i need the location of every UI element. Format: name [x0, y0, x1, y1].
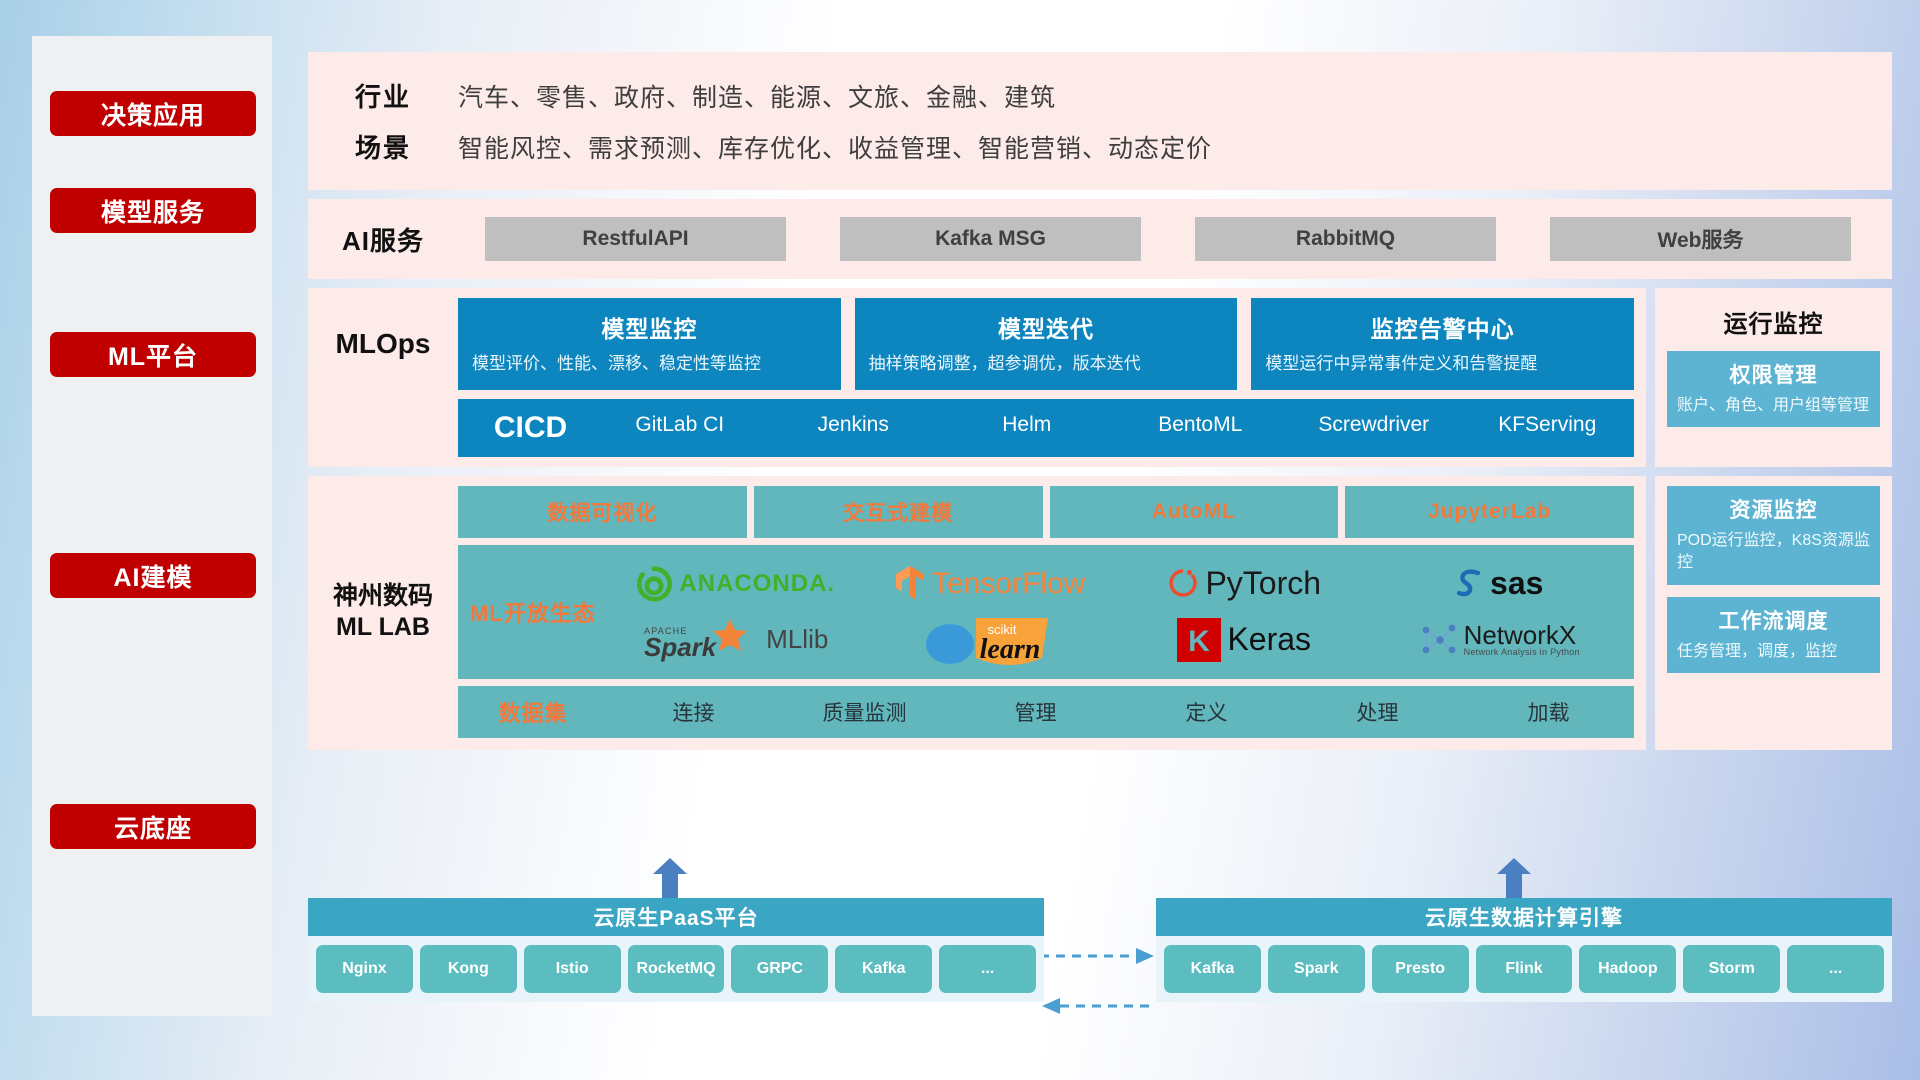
- card-title: 工作流调度: [1677, 605, 1870, 635]
- monitor-card-resource[interactable]: 资源监控 POD运行监控，K8S资源监控: [1667, 486, 1880, 585]
- data-engine-chip-list: Kafka Spark Presto Flink Hadoop Storm ..…: [1156, 936, 1892, 1002]
- dataset-label: 数据集: [458, 696, 608, 728]
- scenario-value: 智能风控、需求预测、库存优化、收益管理、智能营销、动态定价: [458, 129, 1212, 165]
- card-desc: 账户、角色、用户组等管理: [1677, 395, 1870, 417]
- dataset-item-process[interactable]: 处理: [1292, 697, 1463, 727]
- spark-mllib-logo: APACHE Spark MLlib: [642, 618, 828, 662]
- networkx-wordmark: NetworkX: [1464, 622, 1580, 648]
- tensorflow-logo: TensorFlow: [894, 564, 1085, 604]
- svg-text:K: K: [1189, 625, 1211, 658]
- card-title: 模型监控: [472, 310, 827, 344]
- cicd-label: CICD: [468, 399, 593, 457]
- pytorch-mark: [1167, 565, 1199, 603]
- pytorch-logo: PyTorch: [1167, 565, 1321, 603]
- card-title: 资源监控: [1677, 494, 1870, 524]
- paas-chip-more[interactable]: ...: [939, 945, 1036, 993]
- industry-value: 汽车、零售、政府、制造、能源、文旅、金融、建筑: [458, 78, 1056, 114]
- cicd-item-jenkins[interactable]: Jenkins: [767, 399, 941, 436]
- ml-open-ecosystem: ML开放生态 ANACONDA.: [458, 545, 1634, 679]
- scenario-row: 场景 智能风控、需求预测、库存优化、收益管理、智能营销、动态定价: [308, 121, 1892, 172]
- ai-service-label: AI服务: [308, 221, 458, 258]
- mlops-cards: 模型监控 模型评价、性能、漂移、稳定性等监控 模型迭代 抽样策略调整，超参调优，…: [458, 298, 1634, 390]
- paas-chip-grpc[interactable]: GRPC: [731, 945, 828, 993]
- monitor-card-permission[interactable]: 权限管理 账户、角色、用户组等管理: [1667, 351, 1880, 427]
- spark-mark: APACHE Spark: [642, 618, 760, 662]
- dataset-item-define[interactable]: 定义: [1121, 697, 1292, 727]
- ml-lab-row: 神州数码 ML LAB 数据可视化 交互式建模 AutoML JupyterLa…: [308, 486, 1634, 738]
- data-engine-panel: 云原生数据计算引擎 Kafka Spark Presto Flink Hadoo…: [1156, 898, 1892, 1002]
- dataset-item-quality[interactable]: 质量监测: [779, 697, 950, 727]
- cicd-items: GitLab CI Jenkins Helm BentoML Screwdriv…: [593, 399, 1634, 436]
- service-kafka-msg[interactable]: Kafka MSG: [840, 217, 1141, 261]
- run-monitor-title: 运行监控: [1667, 304, 1880, 339]
- tensorflow-mark: [894, 564, 926, 604]
- engine-chip-flink[interactable]: Flink: [1476, 945, 1573, 993]
- card-desc: 任务管理，调度，监控: [1677, 641, 1870, 663]
- card-desc: 模型运行中异常事件定义和告警提醒: [1265, 353, 1620, 376]
- paas-platform-title: 云原生PaaS平台: [308, 898, 1044, 936]
- industry-row: 行业 汽车、零售、政府、制造、能源、文旅、金融、建筑: [308, 70, 1892, 121]
- svg-text:Spark: Spark: [644, 632, 718, 662]
- tool-interactive-modeling[interactable]: 交互式建模: [754, 486, 1043, 538]
- engine-chip-more[interactable]: ...: [1787, 945, 1884, 993]
- paas-platform-panel: 云原生PaaS平台 Nginx Kong Istio RocketMQ GRPC…: [308, 898, 1044, 1002]
- cicd-item-bentoml[interactable]: BentoML: [1114, 399, 1288, 436]
- card-title: 权限管理: [1677, 359, 1870, 389]
- anaconda-wordmark: ANACONDA.: [679, 570, 835, 598]
- diagram-canvas: 决策应用 模型服务 ML平台 AI建模 云底座 行业 汽车、零售、政府、制造、能…: [0, 0, 1920, 1080]
- keras-wordmark: Keras: [1227, 621, 1311, 658]
- svg-text:learn: learn: [979, 634, 1040, 665]
- ml-open-ecosystem-label: ML开放生态: [458, 596, 608, 628]
- card-desc: 模型评价、性能、漂移、稳定性等监控: [472, 353, 827, 376]
- mlops-panel: MLOps 模型监控 模型评价、性能、漂移、稳定性等监控 模型迭代 抽样策略调整…: [308, 288, 1646, 467]
- networkx-mark: [1418, 620, 1458, 660]
- cicd-item-helm[interactable]: Helm: [940, 399, 1114, 436]
- cloud-base-band: 云原生PaaS平台 Nginx Kong Istio RocketMQ GRPC…: [308, 898, 1892, 1048]
- dataset-item-load[interactable]: 加载: [1463, 697, 1634, 727]
- card-desc: POD运行监控，K8S资源监控: [1677, 530, 1870, 575]
- card-title: 模型迭代: [869, 310, 1224, 344]
- data-engine-title: 云原生数据计算引擎: [1156, 898, 1892, 936]
- scikit-learn-logo: scikit learn: [924, 612, 1056, 668]
- pytorch-wordmark: PyTorch: [1205, 565, 1321, 602]
- decision-application-band: 行业 汽车、零售、政府、制造、能源、文旅、金融、建筑 场景 智能风控、需求预测、…: [308, 52, 1892, 190]
- ml-lab-body: 数据可视化 交互式建模 AutoML JupyterLab ML开放生态: [458, 486, 1634, 738]
- mllib-wordmark: MLlib: [766, 624, 828, 655]
- dataset-row: 数据集 连接 质量监测 管理 定义 处理 加载: [458, 686, 1634, 738]
- tensorflow-wordmark: TensorFlow: [932, 567, 1085, 601]
- cicd-item-gitlab-ci[interactable]: GitLab CI: [593, 399, 767, 436]
- paas-chip-istio[interactable]: Istio: [524, 945, 621, 993]
- rail-item-ml-platform[interactable]: ML平台: [50, 332, 256, 377]
- keras-mark: K: [1177, 618, 1221, 662]
- tool-automl[interactable]: AutoML: [1050, 486, 1339, 538]
- card-desc: 抽样策略调整，超参调优，版本迭代: [869, 353, 1224, 376]
- mlops-row: MLOps 模型监控 模型评价、性能、漂移、稳定性等监控 模型迭代 抽样策略调整…: [308, 298, 1634, 390]
- ml-lab-tools: 数据可视化 交互式建模 AutoML JupyterLab: [458, 486, 1634, 538]
- industry-label: 行业: [308, 77, 458, 114]
- ai-service-items: RestfulAPI Kafka MSG RabbitMQ Web服务: [458, 217, 1892, 261]
- cicd-item-kfserving[interactable]: KFServing: [1461, 399, 1635, 436]
- ml-lab-label-line1: 神州数码: [333, 581, 433, 612]
- layer-rail: 决策应用 模型服务 ML平台 AI建模 云底座: [32, 36, 272, 1016]
- dataset-item-manage[interactable]: 管理: [950, 697, 1121, 727]
- sas-mark: [1454, 566, 1484, 602]
- cicd-item-screwdriver[interactable]: Screwdriver: [1287, 399, 1461, 436]
- service-restful-api[interactable]: RestfulAPI: [485, 217, 786, 261]
- paas-chip-nginx[interactable]: Nginx: [316, 945, 413, 993]
- service-web[interactable]: Web服务: [1550, 217, 1851, 261]
- anaconda-logo: ANACONDA.: [635, 565, 835, 603]
- dataset-items: 连接 质量监测 管理 定义 处理 加载: [608, 697, 1634, 727]
- engine-chip-presto[interactable]: Presto: [1372, 945, 1469, 993]
- rail-item-decision-app[interactable]: 决策应用: [50, 91, 256, 136]
- paas-chip-rocketmq[interactable]: RocketMQ: [628, 945, 725, 993]
- cicd-bar: CICD GitLab CI Jenkins Helm BentoML Scre…: [458, 399, 1634, 457]
- service-rabbitmq[interactable]: RabbitMQ: [1195, 217, 1496, 261]
- run-monitor-panel-bottom: 资源监控 POD运行监控，K8S资源监控 工作流调度 任务管理，调度，监控: [1655, 476, 1892, 750]
- dataset-item-connect[interactable]: 连接: [608, 697, 779, 727]
- ecosystem-logos: ANACONDA. TensorFlow: [608, 556, 1634, 668]
- ml-platform-band: MLOps 模型监控 模型评价、性能、漂移、稳定性等监控 模型迭代 抽样策略调整…: [308, 288, 1892, 467]
- anaconda-mark: [635, 565, 673, 603]
- rail-item-ai-modeling[interactable]: AI建模: [50, 553, 256, 598]
- rail-item-cloud-base[interactable]: 云底座: [50, 804, 256, 849]
- tool-jupyterlab[interactable]: JupyterLab: [1345, 486, 1634, 538]
- ml-lab-panel: 神州数码 ML LAB 数据可视化 交互式建模 AutoML JupyterLa…: [308, 476, 1646, 750]
- networkx-logo: NetworkX Network Analysis in Python: [1418, 620, 1580, 660]
- scenario-label: 场景: [308, 128, 458, 165]
- scikit-learn-mark: scikit learn: [924, 612, 1056, 668]
- paas-chip-kafka[interactable]: Kafka: [835, 945, 932, 993]
- paas-chip-kong[interactable]: Kong: [420, 945, 517, 993]
- keras-logo: K Keras: [1177, 618, 1311, 662]
- sas-wordmark: sas: [1490, 565, 1543, 602]
- up-arrow-data-engine: [1497, 858, 1531, 902]
- rail-item-model-service[interactable]: 模型服务: [50, 188, 256, 233]
- engine-chip-spark[interactable]: Spark: [1268, 945, 1365, 993]
- engine-chip-kafka[interactable]: Kafka: [1164, 945, 1261, 993]
- engine-chip-storm[interactable]: Storm: [1683, 945, 1780, 993]
- mlops-card-model-iteration[interactable]: 模型迭代 抽样策略调整，超参调优，版本迭代: [855, 298, 1238, 390]
- monitor-card-workflow[interactable]: 工作流调度 任务管理，调度，监控: [1667, 597, 1880, 673]
- main-column: 行业 汽车、零售、政府、制造、能源、文旅、金融、建筑 场景 智能风控、需求预测、…: [308, 52, 1892, 759]
- mlops-card-model-monitoring[interactable]: 模型监控 模型评价、性能、漂移、稳定性等监控: [458, 298, 841, 390]
- networkx-tagline: Network Analysis in Python: [1464, 648, 1580, 657]
- engine-chip-hadoop[interactable]: Hadoop: [1579, 945, 1676, 993]
- run-monitor-panel-top: 运行监控 权限管理 账户、角色、用户组等管理: [1655, 288, 1892, 467]
- ml-lab-label-line2: ML LAB: [336, 612, 430, 643]
- sas-logo: sas: [1454, 565, 1543, 602]
- card-title: 监控告警中心: [1265, 310, 1620, 344]
- mlops-card-alert-center[interactable]: 监控告警中心 模型运行中异常事件定义和告警提醒: [1251, 298, 1634, 390]
- ai-modeling-band: 神州数码 ML LAB 数据可视化 交互式建模 AutoML JupyterLa…: [308, 476, 1892, 750]
- mlops-label: MLOps: [308, 298, 458, 390]
- tool-data-visualization[interactable]: 数据可视化: [458, 486, 747, 538]
- ml-lab-label: 神州数码 ML LAB: [308, 486, 458, 738]
- up-arrow-paas: [653, 858, 687, 902]
- paas-chip-list: Nginx Kong Istio RocketMQ GRPC Kafka ...: [308, 936, 1044, 1002]
- ai-service-band: AI服务 RestfulAPI Kafka MSG RabbitMQ Web服务: [308, 199, 1892, 279]
